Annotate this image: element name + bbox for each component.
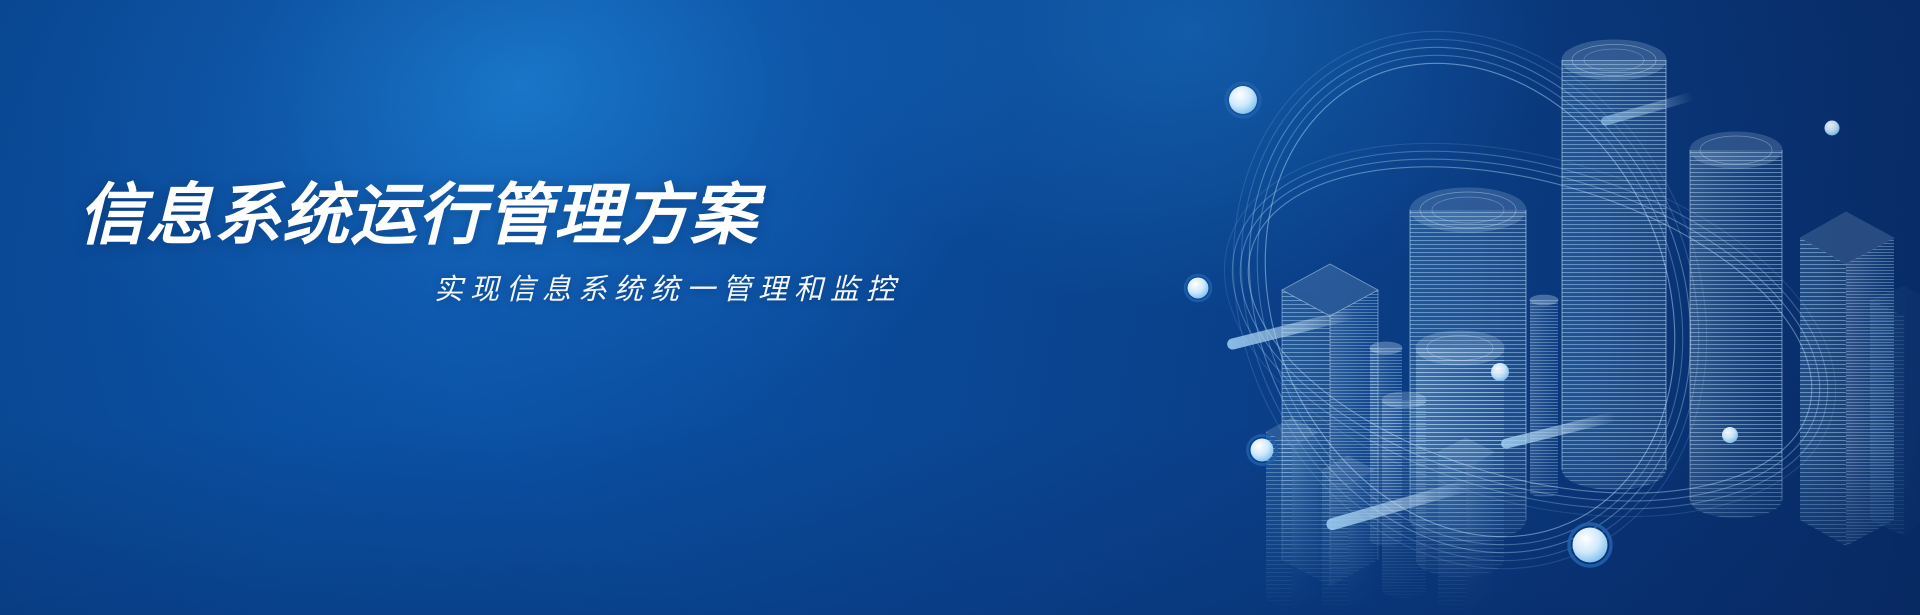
banner-subtitle: 实现信息系统统一管理和监控 bbox=[78, 266, 908, 308]
tower-mid-narrow-cylinder bbox=[1530, 295, 1558, 497]
city-artwork bbox=[1170, 0, 1920, 615]
tower-background-hints bbox=[1870, 286, 1920, 536]
city-artwork-svg bbox=[1170, 0, 1920, 615]
glow-dot-top-left bbox=[1226, 83, 1260, 117]
glow-dot-top-right bbox=[1825, 121, 1840, 136]
glow-dot-bottom-left bbox=[1248, 436, 1277, 465]
banner-text-block: 信息系统运行管理方案 实现信息系统统一管理和监控 bbox=[78, 182, 908, 308]
tower-right-rounded bbox=[1690, 132, 1782, 518]
glow-dot-bottom-center bbox=[1569, 524, 1611, 566]
glow-dot-small-center bbox=[1491, 363, 1509, 381]
banner-root: 信息系统运行管理方案 实现信息系统统一管理和监控 bbox=[0, 0, 1920, 615]
glow-dot-small-right bbox=[1722, 427, 1738, 443]
banner-title: 信息系统运行管理方案 bbox=[78, 182, 908, 249]
glow-dot-mid-left bbox=[1185, 275, 1211, 301]
